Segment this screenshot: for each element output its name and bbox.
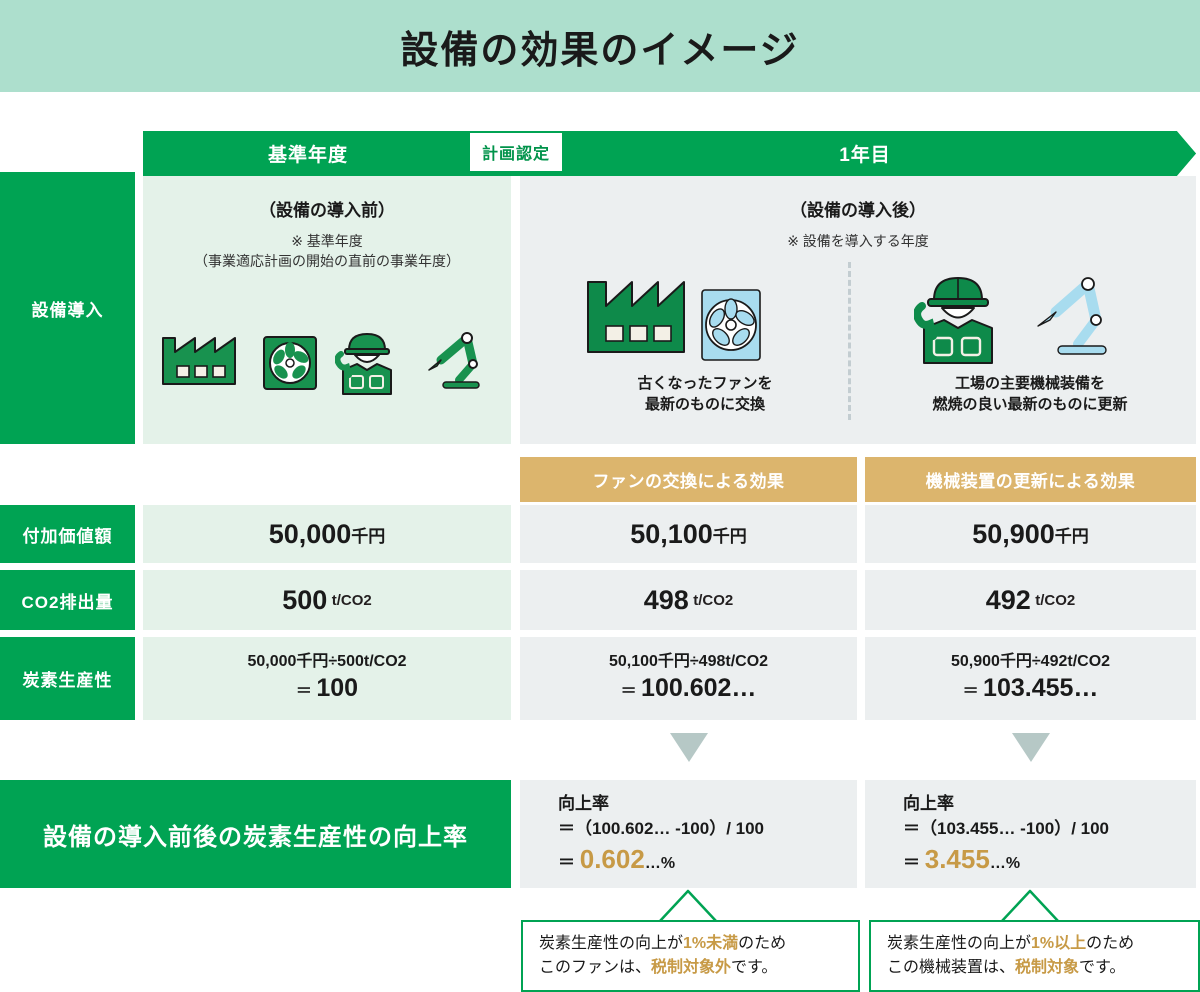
carbon-fan-equals: ＝: [621, 683, 637, 700]
carbon-fan-result: 100.602…: [641, 674, 756, 702]
carbon-machine-expression: 50,900千円÷492t/CO2: [951, 651, 1110, 673]
rate-fan-equation: ＝（100.602… -100）/ 100: [558, 817, 857, 842]
infographic-root: 設備の効果のイメージ 基準年度 計画認定 1年目 設備導入 付加価値額 CO2排…: [0, 0, 1200, 990]
effect-header-machine: 機械装置の更新による効果: [865, 457, 1196, 502]
row-label-equipment: 設備導入: [0, 172, 135, 444]
co2-machine-number: 492: [986, 585, 1031, 616]
before-note-2: （事業適応計画の開始の直前の事業年度）: [143, 251, 511, 271]
timeline-year-1: 1年目: [565, 131, 1165, 176]
carbon-base-expression: 50,000千円÷500t/CO2: [247, 651, 406, 673]
page-title: 設備の効果のイメージ: [0, 0, 1200, 92]
worker-icon: [335, 324, 405, 396]
summary-band-label: 設備の導入前後の炭素生産性の向上率: [0, 780, 511, 888]
row-label-added-value: 付加価値額: [0, 505, 135, 563]
callout-pointer-machine-icon: [1000, 888, 1060, 922]
rate-fan-title: 向上率: [558, 789, 857, 814]
down-triangle-fan-icon: [670, 733, 708, 762]
fan-caption-line-2: 最新のものに交換: [560, 394, 850, 415]
rate-fan-eq-prefix: ＝: [558, 853, 575, 872]
callout-pointer-fan-icon: [658, 888, 718, 922]
carbon-base-result: 100: [316, 674, 358, 702]
before-note-1: ※ 基準年度: [143, 231, 511, 251]
rate-machine-title: 向上率: [903, 789, 1196, 814]
rate-fan-value: 0.602: [580, 844, 645, 874]
co2-machine-unit: t/CO2: [1035, 592, 1075, 609]
row-label-carbon-productivity: 炭素生産性: [0, 637, 135, 720]
value-machine-unit: 千円: [1055, 522, 1089, 547]
rate-machine-value: 3.455: [925, 844, 990, 874]
rate-machine-suffix: …%: [990, 855, 1020, 872]
rate-fan-suffix: …%: [645, 855, 675, 872]
value-base-unit: 千円: [351, 522, 385, 547]
before-heading: （設備の導入前）: [143, 196, 511, 221]
callout-fan: 炭素生産性の向上が1%未満のため このファンは、税制対象外です。: [521, 920, 860, 992]
cell-co2-base: 500 t/CO2: [143, 570, 511, 630]
co2-base-number: 500: [282, 585, 327, 616]
value-fan-number: 50,100: [630, 519, 713, 550]
carbon-machine-equals: ＝: [963, 683, 979, 700]
callout-machine-l2-b: です。: [1079, 959, 1125, 976]
cell-value-machine: 50,900千円: [865, 505, 1196, 563]
callout-fan-l1-a: 炭素生産性の向上が: [539, 935, 683, 952]
carbon-base-equals: ＝: [296, 683, 312, 700]
co2-fan-number: 498: [644, 585, 689, 616]
after-heading: （設備の導入後）: [520, 196, 1196, 221]
callout-fan-l2-a: このファンは、: [539, 959, 651, 976]
fan-icon: [261, 334, 319, 392]
callout-fan-l1-highlight: 1%未満: [683, 935, 738, 952]
co2-base-unit: t/CO2: [332, 592, 372, 609]
robot-arm-icon: [1020, 270, 1112, 366]
cell-carbon-machine: 50,900千円÷492t/CO2 ＝ 103.455…: [865, 637, 1196, 720]
cell-carbon-fan: 50,100千円÷498t/CO2 ＝ 100.602…: [520, 637, 857, 720]
value-base-number: 50,000: [269, 519, 352, 550]
worker-icon: [914, 266, 1010, 366]
factory-icon: [159, 328, 249, 390]
machine-caption-line-1: 工場の主要機械装備を: [880, 373, 1180, 394]
callout-machine-l2-highlight: 税制対象: [1015, 959, 1079, 976]
callout-machine-l1-b: のため: [1086, 935, 1134, 952]
after-note: ※ 設備を導入する年度: [520, 231, 1196, 251]
callout-machine-l1-highlight: 1%以上: [1031, 935, 1086, 952]
new-fan-icon: [700, 288, 762, 362]
panel-divider: [848, 262, 851, 420]
callout-fan-l1-b: のため: [738, 935, 786, 952]
effect-header-fan: ファンの交換による効果: [520, 457, 857, 502]
machine-caption-line-2: 燃焼の良い最新のものに更新: [880, 394, 1180, 415]
carbon-fan-expression: 50,100千円÷498t/CO2: [609, 651, 768, 673]
co2-fan-unit: t/CO2: [693, 592, 733, 609]
cell-carbon-base: 50,000千円÷500t/CO2 ＝ 100: [143, 637, 511, 720]
rate-box-machine: 向上率 ＝（103.455… -100）/ 100 ＝ 3.455…%: [865, 780, 1196, 888]
rate-machine-eq-prefix: ＝: [903, 853, 920, 872]
value-fan-unit: 千円: [713, 522, 747, 547]
callout-fan-l2-highlight: 税制対象外: [651, 959, 731, 976]
row-label-co2: CO2排出量: [0, 570, 135, 630]
fan-caption-line-1: 古くなったファンを: [560, 373, 850, 394]
callout-machine-l1-a: 炭素生産性の向上が: [887, 935, 1031, 952]
panel-after-introduction: （設備の導入後） ※ 設備を導入する年度: [520, 176, 1196, 444]
rate-machine-equation: ＝（103.455… -100）/ 100: [903, 817, 1196, 842]
robot-arm-icon: [415, 330, 487, 396]
factory-icon: [582, 270, 700, 360]
cell-co2-machine: 492 t/CO2: [865, 570, 1196, 630]
plan-approval-badge: 計画認定: [470, 133, 562, 171]
cell-value-fan: 50,100千円: [520, 505, 857, 563]
carbon-machine-result: 103.455…: [983, 674, 1098, 702]
cell-value-base: 50,000千円: [143, 505, 511, 563]
down-triangle-machine-icon: [1012, 733, 1050, 762]
callout-fan-l2-b: です。: [731, 959, 777, 976]
rate-box-fan: 向上率 ＝（100.602… -100）/ 100 ＝ 0.602…%: [520, 780, 857, 888]
value-machine-number: 50,900: [972, 519, 1055, 550]
callout-machine-l2-a: この機械装置は、: [887, 959, 1015, 976]
timeline-base-year: 基準年度: [143, 131, 473, 176]
cell-co2-fan: 498 t/CO2: [520, 570, 857, 630]
panel-before-introduction: （設備の導入前） ※ 基準年度 （事業適応計画の開始の直前の事業年度）: [143, 176, 511, 444]
callout-machine: 炭素生産性の向上が1%以上のため この機械装置は、税制対象です。: [869, 920, 1200, 992]
